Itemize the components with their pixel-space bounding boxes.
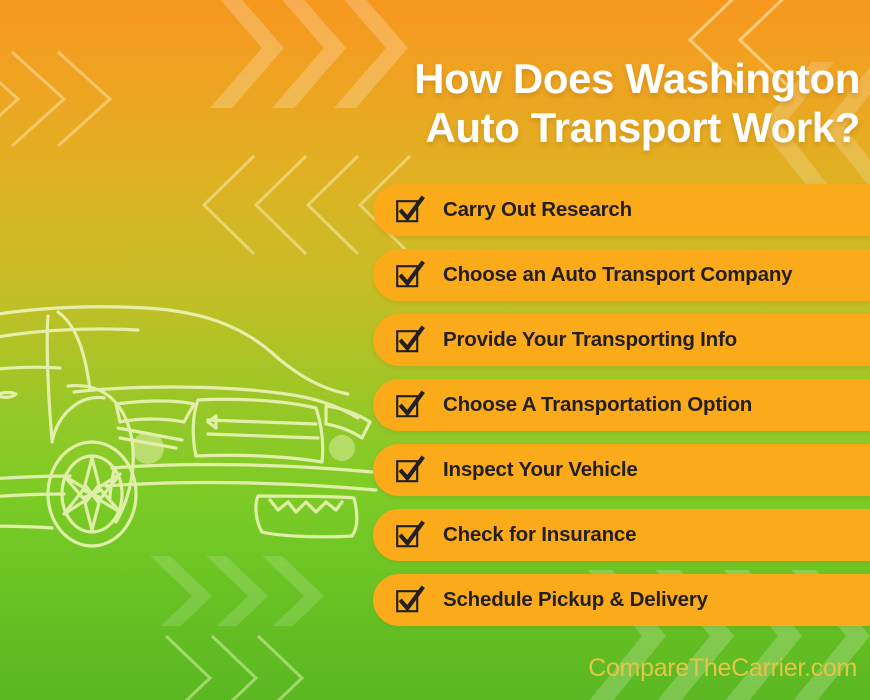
checklist-item-label: Inspect Your Vehicle xyxy=(443,458,638,482)
page-title-line-1: How Does Washington xyxy=(318,54,860,103)
checklist-item-1[interactable]: Carry Out Research xyxy=(373,184,870,236)
checkbox-checked-icon xyxy=(395,390,425,420)
checkbox-checked-icon xyxy=(395,585,425,615)
suv-line-art-illustration xyxy=(0,282,386,554)
checklist-item-4[interactable]: Choose A Transportation Option xyxy=(373,379,870,431)
page-title-line-2: Auto Transport Work? xyxy=(318,103,860,152)
checkbox-checked-icon xyxy=(395,325,425,355)
checkbox-checked-icon xyxy=(395,520,425,550)
page-title: How Does Washington Auto Transport Work? xyxy=(318,54,860,152)
checklist: Carry Out Research Choose an Auto Transp… xyxy=(373,184,870,639)
checklist-item-label: Choose A Transportation Option xyxy=(443,393,752,417)
infographic-canvas: How Does Washington Auto Transport Work?… xyxy=(0,0,870,700)
checklist-item-2[interactable]: Choose an Auto Transport Company xyxy=(373,249,870,301)
checklist-item-7[interactable]: Schedule Pickup & Delivery xyxy=(373,574,870,626)
checklist-item-label: Provide Your Transporting Info xyxy=(443,328,737,352)
checklist-item-6[interactable]: Check for Insurance xyxy=(373,509,870,561)
checkbox-checked-icon xyxy=(395,195,425,225)
chevron-right-solid-mid-icon xyxy=(150,556,390,626)
checklist-item-label: Choose an Auto Transport Company xyxy=(443,263,792,287)
chevron-right-outline-bottom-icon xyxy=(160,628,340,700)
brand-website-text[interactable]: CompareTheCarrier.com xyxy=(588,654,857,683)
checklist-item-label: Schedule Pickup & Delivery xyxy=(443,588,708,612)
checklist-item-label: Check for Insurance xyxy=(443,523,636,547)
chevron-right-outline-icon xyxy=(0,44,140,154)
checklist-item-5[interactable]: Inspect Your Vehicle xyxy=(373,444,870,496)
checklist-item-label: Carry Out Research xyxy=(443,198,632,222)
checkbox-checked-icon xyxy=(395,455,425,485)
checkbox-checked-icon xyxy=(395,260,425,290)
checklist-item-3[interactable]: Provide Your Transporting Info xyxy=(373,314,870,366)
